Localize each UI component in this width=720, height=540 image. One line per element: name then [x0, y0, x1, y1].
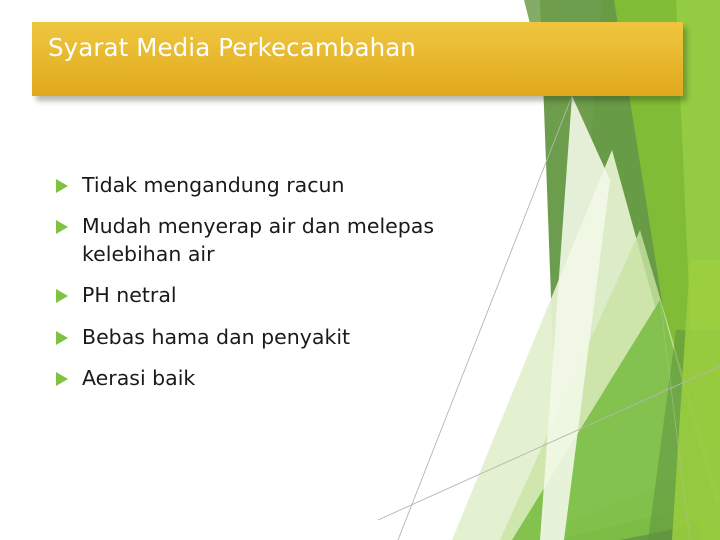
list-item-label: PH netral	[82, 282, 486, 309]
list-item: Bebas hama dan penyakit	[56, 324, 486, 351]
list-item-label: Aerasi baik	[82, 365, 486, 392]
decor-shape-bright-overlay	[672, 260, 720, 540]
triangle-bullet-icon	[56, 372, 68, 386]
triangle-bullet-icon	[56, 179, 68, 193]
decor-shape-light-triangle	[500, 230, 720, 540]
decor-shape-lower-right-accent	[648, 330, 720, 540]
list-item: Aerasi baik	[56, 365, 486, 392]
list-item: Mudah menyerap air dan melepas kelebihan…	[56, 213, 486, 268]
slide-title-bar: Syarat Media Perkecambahan	[32, 22, 683, 96]
list-item-label: Mudah menyerap air dan melepas kelebihan…	[82, 213, 486, 268]
triangle-bullet-icon	[56, 220, 68, 234]
triangle-bullet-icon	[56, 331, 68, 345]
decor-shape-lower-wedge	[512, 300, 720, 540]
presentation-slide: Syarat Media Perkecambahan Tidak mengand…	[0, 0, 720, 540]
list-item-label: Tidak mengandung racun	[82, 172, 486, 199]
triangle-bullet-icon	[56, 289, 68, 303]
list-item: Tidak mengandung racun	[56, 172, 486, 199]
bullet-list: Tidak mengandung racun Mudah menyerap ai…	[56, 172, 486, 407]
decor-shape-pale-sliver	[540, 96, 610, 540]
decor-shape-pale-triangle	[452, 150, 700, 540]
list-item-label: Bebas hama dan penyakit	[82, 324, 486, 351]
page-title: Syarat Media Perkecambahan	[48, 33, 416, 62]
decor-line-vertical-accent	[660, 300, 690, 540]
list-item: PH netral	[56, 282, 486, 309]
